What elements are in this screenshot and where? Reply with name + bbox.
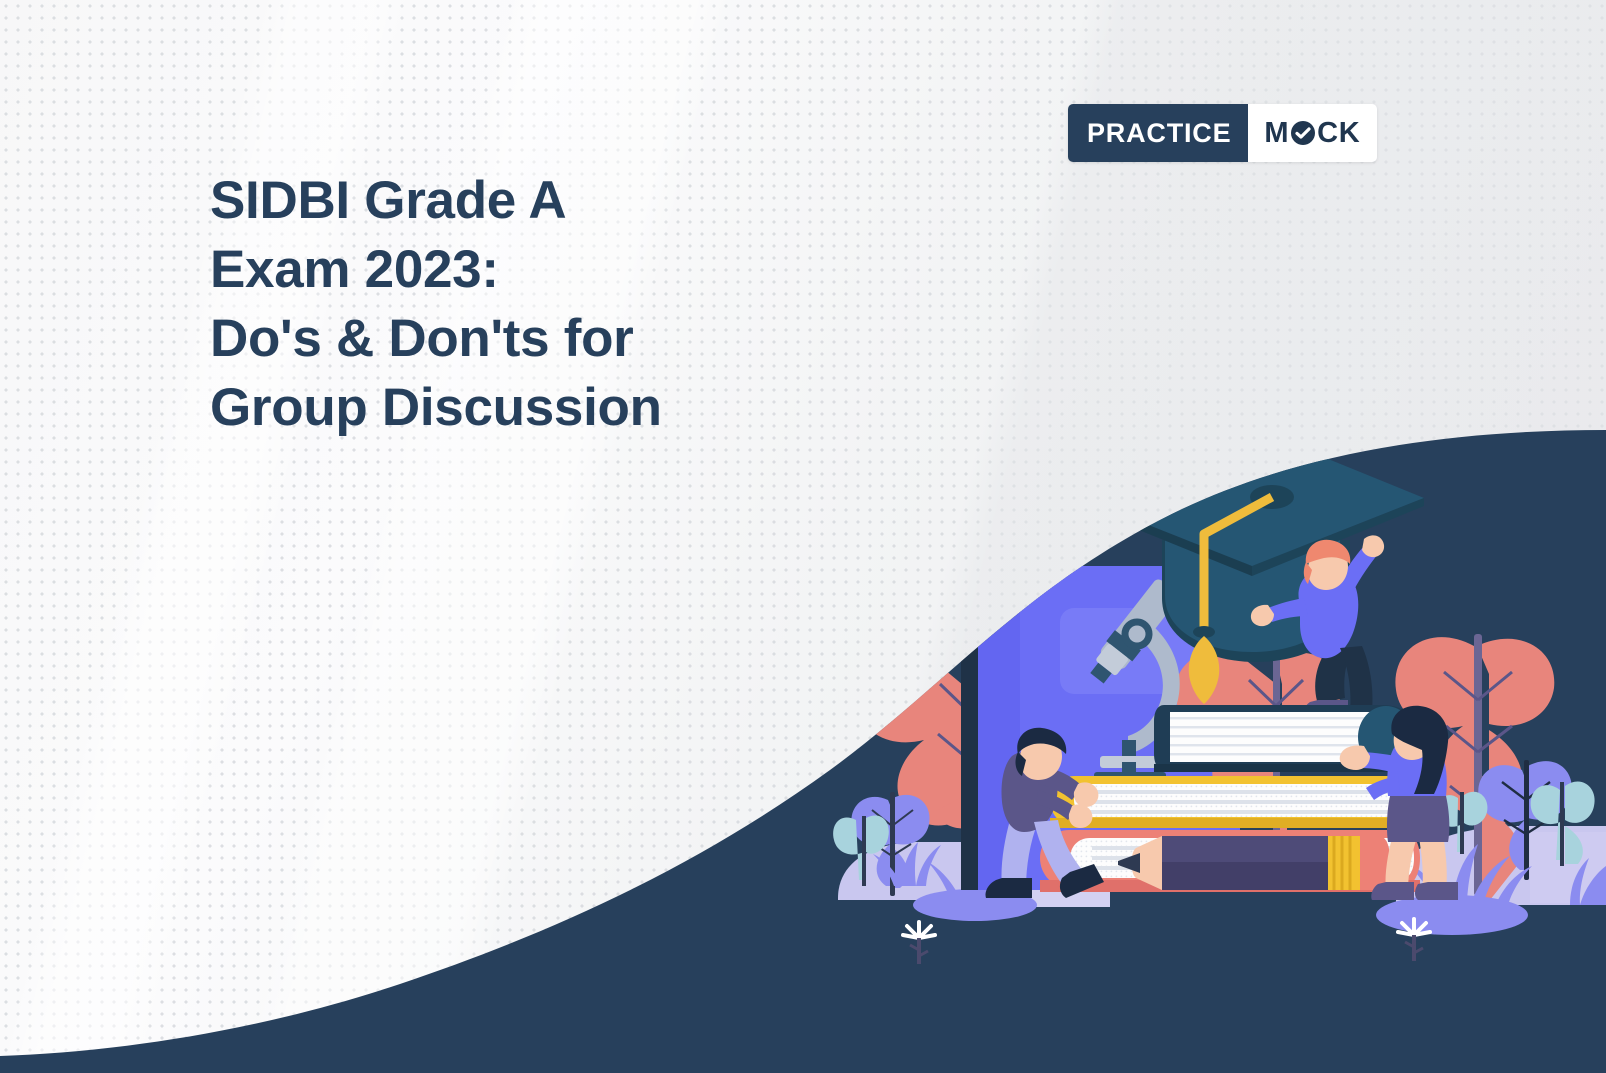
page-title: SIDBI Grade A Exam 2023: Do's & Don'ts f… (210, 166, 850, 442)
check-in-circle-icon (1290, 120, 1316, 146)
logo-word-mock: M CK (1248, 104, 1377, 162)
logo-letters-ck: CK (1317, 117, 1360, 150)
logo-word-practice: PRACTICE (1068, 104, 1248, 162)
book-middle-yellow (1050, 776, 1410, 828)
pencil (1118, 836, 1390, 890)
title-line-3: Do's & Don'ts for (210, 304, 850, 373)
practicemock-logo[interactable]: PRACTICE M CK (1068, 104, 1377, 162)
title-line-1: SIDBI Grade A (210, 166, 850, 235)
small-flower-left (903, 922, 935, 964)
small-flower-right (1398, 919, 1430, 961)
title-line-2: Exam 2023: (210, 235, 850, 304)
banner-canvas: SIDBI Grade A Exam 2023: Do's & Don'ts f… (0, 0, 1606, 1073)
title-line-4: Group Discussion (210, 373, 850, 442)
logo-letter-m: M (1264, 117, 1289, 150)
